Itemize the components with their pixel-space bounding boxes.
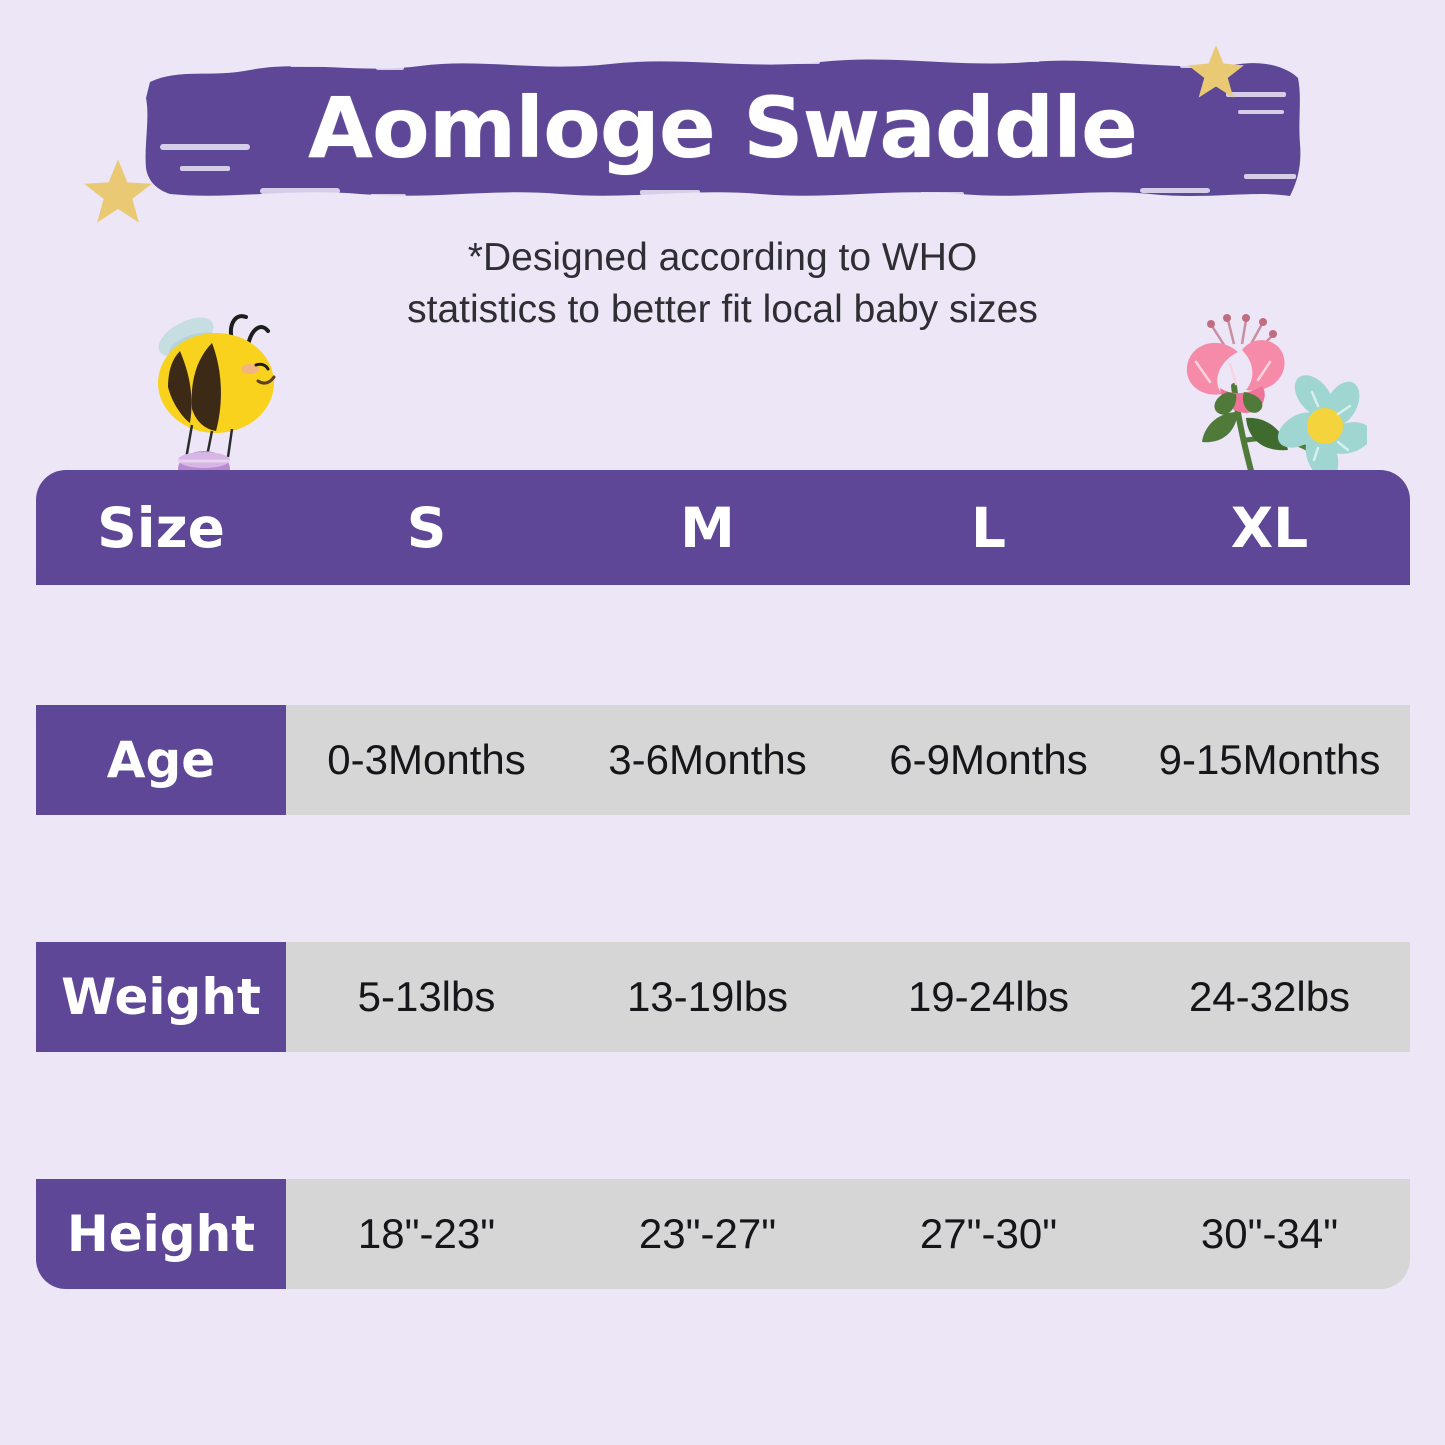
header-cell-m: M	[567, 496, 848, 560]
cell-weight-l: 19-24lbs	[848, 973, 1129, 1021]
row-values-weight: 5-13lbs 13-19lbs 19-24lbs 24-32lbs	[286, 942, 1410, 1052]
cell-weight-m: 13-19lbs	[567, 973, 848, 1021]
cell-height-m: 23"-27"	[567, 1210, 848, 1258]
header-cell-l: L	[848, 496, 1129, 560]
cell-height-s: 18"-23"	[286, 1210, 567, 1258]
cell-weight-xl: 24-32lbs	[1129, 973, 1410, 1021]
header-cell-s: S	[286, 496, 567, 560]
row-label-age: Age	[36, 705, 286, 815]
row-values-age: 0-3Months 3-6Months 6-9Months 9-15Months	[286, 705, 1410, 815]
header-cell-size: Size	[36, 496, 286, 560]
star-icon	[82, 155, 154, 227]
row-values-height: 18"-23" 23"-27" 27"-30" 30"-34"	[286, 1179, 1410, 1289]
subtitle-line-1: *Designed according to WHO	[0, 232, 1445, 284]
cell-height-xl: 30"-34"	[1129, 1210, 1410, 1258]
cell-age-s: 0-3Months	[286, 736, 567, 784]
page-title: Aomloge Swaddle	[140, 48, 1305, 208]
header-cell-xl: XL	[1129, 496, 1410, 560]
cell-age-xl: 9-15Months	[1129, 736, 1410, 784]
size-chart-table: Size S M L XL Age 0-3Months 3-6Months 6-…	[36, 470, 1410, 1288]
table-row: Height 18"-23" 23"-27" 27"-30" 30"-34"	[36, 1179, 1410, 1289]
cell-age-m: 3-6Months	[567, 736, 848, 784]
flower-icon	[1142, 300, 1367, 490]
bee-icon	[128, 305, 298, 490]
star-icon	[1185, 40, 1247, 102]
title-banner: Aomloge Swaddle	[140, 48, 1305, 208]
row-label-height: Height	[36, 1179, 286, 1289]
cell-age-l: 6-9Months	[848, 736, 1129, 784]
row-label-weight: Weight	[36, 942, 286, 1052]
table-row: Weight 5-13lbs 13-19lbs 19-24lbs 24-32lb…	[36, 942, 1410, 1052]
cell-weight-s: 5-13lbs	[286, 973, 567, 1021]
table-row: Age 0-3Months 3-6Months 6-9Months 9-15Mo…	[36, 705, 1410, 815]
cell-height-l: 27"-30"	[848, 1210, 1129, 1258]
table-header-row: Size S M L XL	[36, 470, 1410, 585]
